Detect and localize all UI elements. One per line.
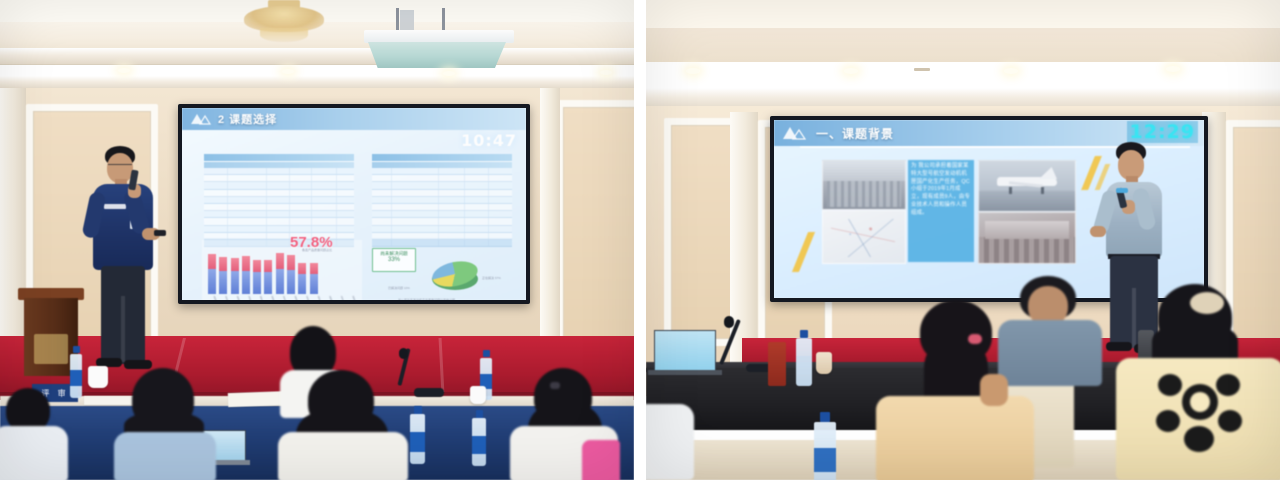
audience-member (0, 388, 70, 480)
table-row (372, 218, 512, 225)
table-left (204, 154, 354, 238)
water-bottle (814, 412, 836, 480)
audience-member (876, 300, 1036, 480)
pie-footer-note: 某公司近年发动机产品质量问题分类统计图 (398, 298, 455, 300)
table-caption-bar (204, 154, 354, 161)
paper-cup (816, 352, 832, 374)
screenshot-root: 2 课题选择 10:47 (0, 0, 1280, 480)
bar-chart-axis-labels (206, 296, 356, 300)
projection-screen-left: 2 课题选择 10:47 (178, 104, 530, 304)
downlight-icon (118, 68, 130, 73)
table-caption-bar (372, 154, 512, 161)
table-right (372, 154, 512, 238)
panel-divider (634, 0, 646, 480)
table-row (372, 204, 512, 211)
slide-course-selection: 2 课题选择 10:47 (182, 108, 526, 300)
screen-surface: 2 课题选择 10:47 (182, 108, 526, 300)
table-row (372, 226, 512, 233)
photo-aircraft (978, 160, 1076, 212)
water-bottle (472, 410, 486, 466)
bar (276, 253, 284, 294)
bar (208, 254, 216, 294)
shirt-flower-print (1184, 426, 1214, 452)
leg-gap (121, 296, 125, 362)
audience-member (1116, 284, 1280, 480)
laptop (654, 330, 716, 374)
ceiling-soffit (646, 28, 1280, 62)
bar (298, 263, 306, 294)
table-row (204, 175, 354, 182)
shirt-flower-print (1156, 410, 1180, 432)
audience-member (646, 404, 694, 480)
photo-right: 一、课题背景 12:29 为 我公司承担着国家某特大型号航空发动机机匣国产化生产… (646, 0, 1280, 480)
table-row (372, 197, 512, 204)
bar (264, 260, 272, 294)
bar (231, 258, 239, 294)
table-row (204, 226, 354, 233)
ceiling-projector (338, 8, 516, 70)
downlight-icon (686, 68, 700, 74)
tea-cup (88, 366, 108, 388)
mic-band (1116, 188, 1128, 193)
downlight-icon (844, 68, 858, 74)
table-row (204, 197, 354, 204)
table-row (204, 168, 354, 175)
audience-member (510, 368, 620, 480)
table-header-row (372, 162, 512, 168)
presenter-left (76, 146, 172, 376)
clicker (154, 230, 166, 236)
pie-note-left: 已解决问题 10% (388, 286, 410, 290)
slide-body-text-content: 为 我公司承担着国家某特大型号航空发动机机匣国产化生产任务，QC小组于2019年… (911, 163, 970, 216)
shirt-flower-center (1190, 392, 1210, 412)
table-row (204, 182, 354, 189)
pie-chart (430, 256, 482, 296)
table-row (204, 211, 354, 218)
hair-scrunchie (1190, 292, 1224, 314)
table-total-row (372, 240, 512, 247)
clock-left: 10:47 (461, 131, 517, 150)
callout-value: 33% (373, 257, 415, 265)
bar-chart (208, 250, 318, 294)
table-row (204, 190, 354, 197)
glasses-icon (108, 164, 132, 169)
water-bottle (410, 406, 425, 464)
wall-panel (556, 100, 634, 364)
water-bottle (70, 346, 82, 398)
audience-member (278, 370, 410, 480)
pie-note-right: 正在解决 57% (482, 276, 501, 280)
photo-city-aerial (822, 160, 906, 210)
clock-right: 12:29 (1127, 121, 1198, 143)
slide-title: 2 课题选择 (218, 111, 277, 127)
mountain-logo-icon (782, 125, 806, 141)
audience-member (112, 368, 218, 480)
bar-chart-note: 各类产品质量问题占比 (302, 248, 332, 252)
downlight-icon (443, 71, 455, 76)
mountain-logo-icon (190, 112, 212, 126)
photo-left: 2 课题选择 10:47 (0, 0, 634, 480)
tea-cup (470, 386, 486, 404)
table-row (372, 168, 512, 175)
table-row (372, 190, 512, 197)
downlight-icon (1004, 68, 1018, 74)
ceiling-vent (914, 68, 930, 71)
downlight-icon (282, 69, 294, 74)
slide-body-text: 为 我公司承担着国家某特大型号航空发动机机匣国产化生产任务，QC小组于2019年… (908, 160, 974, 262)
bar (242, 256, 250, 294)
downlight-icon (600, 70, 612, 75)
chandelier (238, 0, 330, 46)
downlight-icon (1166, 66, 1180, 72)
table-row (372, 182, 512, 189)
photo-route-map (822, 210, 906, 264)
bar (310, 263, 318, 294)
water-bottle (796, 330, 812, 386)
accent-stripe (792, 232, 815, 272)
shirt-flower-print (1158, 374, 1182, 396)
shirt-logo (104, 204, 126, 209)
hand-with-clicker (1090, 226, 1106, 237)
laptop-base (648, 370, 722, 375)
shirt-flower-print (1218, 410, 1242, 432)
table-row (204, 204, 354, 211)
thermos (768, 342, 786, 386)
slide-header: 2 课题选择 (182, 108, 526, 130)
callout-box: 尚未解决问题 33% (372, 248, 416, 272)
bar (287, 255, 295, 294)
bar (253, 260, 261, 294)
photo-factory (978, 212, 1076, 264)
table-header-row (204, 162, 354, 168)
table-row (204, 218, 354, 225)
bar (219, 257, 227, 294)
crown-molding (0, 48, 634, 65)
table-row (372, 233, 512, 240)
table-row (372, 175, 512, 182)
table-row (372, 211, 512, 218)
slide-title: 一、课题背景 (816, 125, 894, 142)
shirt-flower-print (1216, 374, 1240, 396)
